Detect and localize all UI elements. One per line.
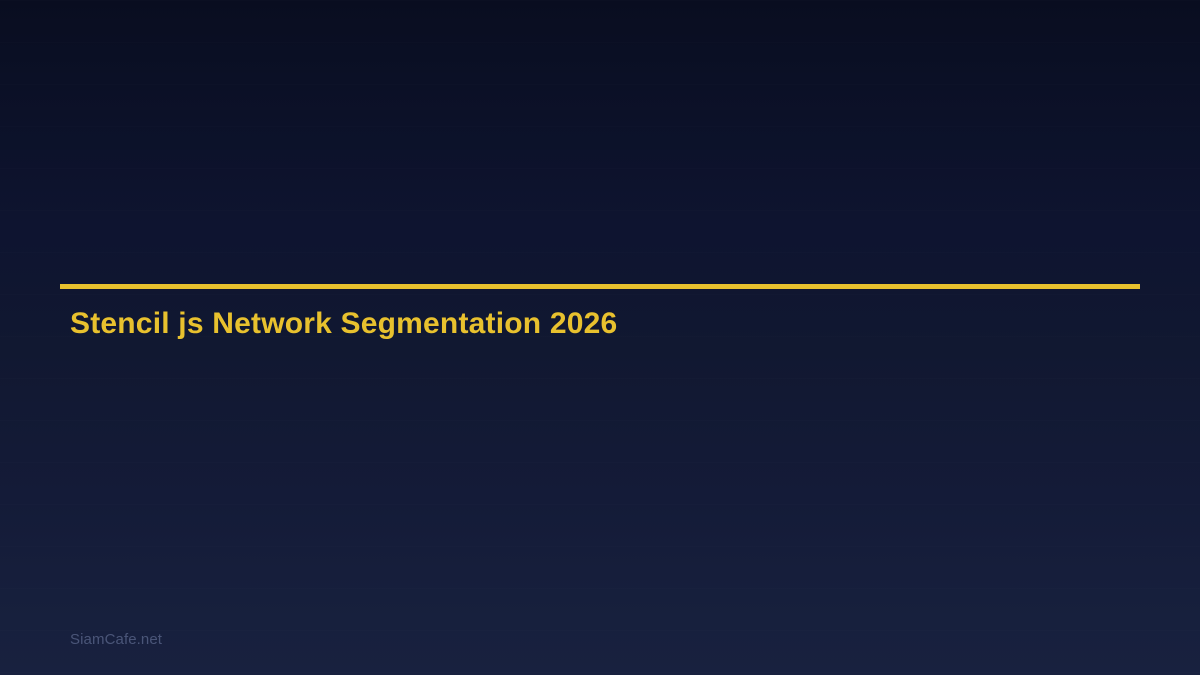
page-title: Stencil js Network Segmentation 2026 — [70, 306, 617, 342]
footer-watermark: SiamCafe.net — [70, 630, 162, 650]
title-block: Stencil js Network Segmentation 2026 — [60, 284, 1140, 289]
accent-rule-divider — [60, 284, 1140, 289]
title-slide: Stencil js Network Segmentation 2026 Sia… — [0, 0, 1200, 675]
